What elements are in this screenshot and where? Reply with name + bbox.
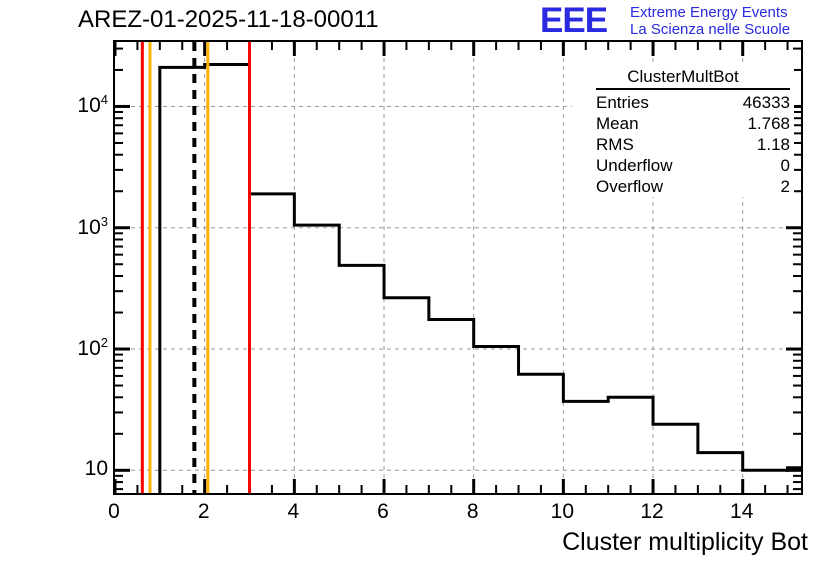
stats-row: RMS1.18 [572,134,794,155]
stats-box-rows: Entries46333Mean1.768RMS1.18Underflow0Ov… [572,92,794,197]
stats-row-key: Mean [596,113,639,134]
stats-row: Mean1.768 [572,113,794,134]
x-axis-tick-label: 12 [640,500,663,524]
stats-box-rule [596,88,790,90]
x-axis-tick-label: 10 [551,500,574,524]
stats-row-key: Entries [596,92,649,113]
stats-row: Overflow2 [572,176,794,197]
x-axis-tick-label: 6 [377,500,389,524]
x-axis-tick-label: 14 [730,500,753,524]
stats-row-value: 1.768 [747,113,790,134]
x-axis-title: Cluster multiplicity Bot [562,528,808,557]
stats-row-value: 1.18 [757,134,790,155]
x-axis-tick-label: 2 [198,500,210,524]
x-axis-tick-label: 4 [288,500,300,524]
stats-row-value: 46333 [743,92,790,113]
x-axis-tick-label: 8 [467,500,479,524]
stats-row: Entries46333 [572,92,794,113]
stats-row-key: Underflow [596,155,673,176]
stats-row: Underflow0 [572,155,794,176]
stats-row-key: Overflow [596,176,663,197]
stats-row-value: 2 [781,176,790,197]
root-canvas: AREZ-01-2025-11-18-00011 EEE Extreme Ene… [0,0,836,572]
stats-box: ClusterMultBot Entries46333Mean1.768RMS1… [572,66,794,197]
stats-row-value: 0 [781,155,790,176]
x-axis-tick-label: 0 [108,500,120,524]
stats-row-key: RMS [596,134,634,155]
stats-box-title: ClusterMultBot [572,66,794,88]
